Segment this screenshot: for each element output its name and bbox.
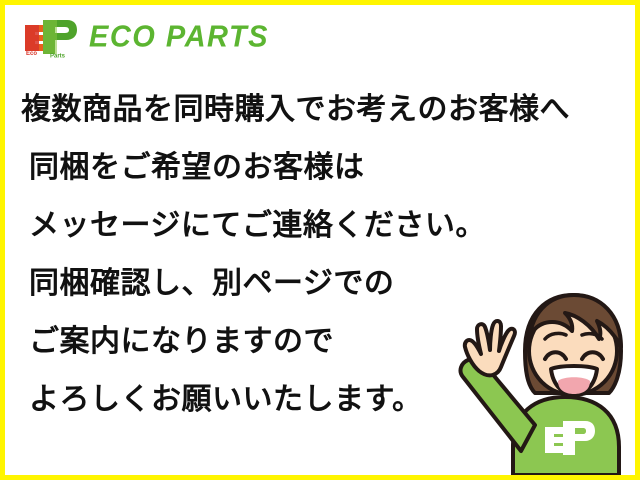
svg-text:Parts: Parts [50,54,66,59]
waving-woman-illustration [395,285,635,475]
ep-monogram-icon: Eco Parts [19,16,81,58]
promo-banner: Eco Parts ECO PARTS 複数商品を同時購入でお考えのお客様へ 同… [0,0,640,480]
message-line-1: 複数商品を同時購入でお考えのお客様へ [21,81,631,139]
message-line-3: メッセージにてご連絡ください。 [21,197,631,255]
brand-wordmark: ECO PARTS [89,22,269,52]
svg-text:Eco: Eco [26,51,37,57]
brand-header: Eco Parts ECO PARTS [19,15,269,59]
message-line-2: 同梱をご希望のお客様は [21,139,631,197]
